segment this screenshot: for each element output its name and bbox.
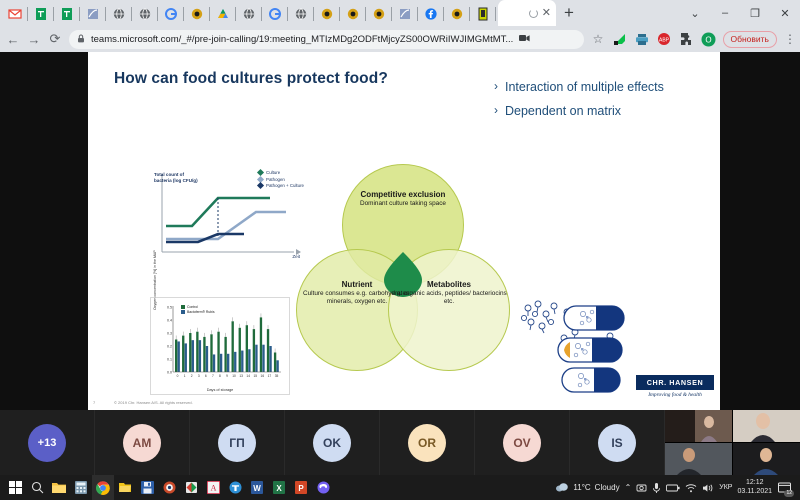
capsule-3 — [562, 368, 620, 392]
chrome-menu-button[interactable]: ⋮ — [784, 32, 794, 46]
acrobat-icon[interactable]: A — [202, 475, 224, 500]
url-text: teams.microsoft.com/_#/pre-join-calling/… — [91, 34, 513, 45]
globe-favicon — [242, 7, 256, 21]
folder-yellow-icon[interactable] — [114, 475, 136, 500]
browser-tab[interactable] — [106, 2, 132, 26]
pdf-reader-icon[interactable] — [180, 475, 202, 500]
tray-expand-chevron-icon[interactable]: ⌃ — [625, 483, 632, 492]
browser-tab[interactable] — [288, 2, 314, 26]
bar — [220, 354, 222, 372]
browser-tab[interactable] — [366, 2, 392, 26]
gmail-favicon — [8, 7, 22, 21]
weather-temp: 11°C — [573, 483, 590, 492]
x-tick-label: 13 — [239, 374, 243, 378]
capsule-1 — [564, 306, 624, 330]
x-tick-label: 15 — [253, 374, 257, 378]
y-tick-label: 0.1 — [167, 357, 172, 361]
bar-chart-y-label: Oxygen concentration [%] in the MAP — [153, 254, 157, 310]
omnibox-toolbar: ← → ⟳ teams.microsoft.com/_#/pre-join-ca… — [0, 26, 800, 52]
svg-text:O: O — [705, 35, 711, 44]
svg-text:A: A — [210, 484, 216, 493]
logo-tagline: Improving food & health — [636, 392, 714, 398]
legend-label: Pathogen — [266, 177, 285, 182]
y-tick-label: 0.3 — [167, 331, 172, 335]
y-tick-label: 0.0 — [167, 370, 172, 374]
weather-description: Cloudy — [595, 483, 620, 492]
file-explorer-icon[interactable] — [48, 475, 70, 500]
free-bacteria-cluster — [521, 301, 557, 333]
bar — [213, 354, 215, 372]
browser-chrome: ✕ + ⌄ – ❐ ✕ ← → ⟳ teams.microsoft.com/_#… — [0, 0, 800, 52]
bar-chart: 0.00.10.20.30.40.5 012367891013141516173… — [150, 297, 290, 395]
bar — [260, 317, 262, 372]
notification-badge: 12 — [784, 490, 794, 497]
svg-text:X: X — [276, 484, 282, 493]
x-tick-label: 1 — [184, 374, 186, 378]
participant-video-4[interactable] — [733, 443, 800, 475]
x-tick-label: 16 — [261, 374, 265, 378]
bar — [189, 333, 191, 372]
legend-item: Bactoferm® Rubis — [181, 310, 215, 314]
bar — [224, 337, 226, 372]
globe-favicon — [138, 7, 152, 21]
logo-wordmark: CHR. HANSEN — [636, 375, 714, 390]
google-favicon — [164, 7, 178, 21]
browser-tab[interactable] — [314, 2, 340, 26]
gold-favicon — [190, 7, 204, 21]
x-tick-label: 35 — [275, 374, 279, 378]
participant-cell[interactable]: IS — [570, 410, 665, 475]
globe-favicon — [294, 7, 308, 21]
bar — [227, 354, 229, 372]
generic-doc-favicon — [398, 7, 412, 21]
language-indicator[interactable]: УКР — [719, 484, 732, 491]
notification-center-icon[interactable]: 12 — [777, 480, 793, 496]
legend-marker-culture — [257, 169, 264, 176]
y-tick-label: 0.4 — [167, 318, 172, 322]
copyright-text: © 2019 Chr. Hansen A/S. All rights reser… — [114, 400, 193, 405]
browser-tab[interactable] — [132, 2, 158, 26]
powerpoint-icon[interactable]: P — [290, 475, 312, 500]
word-icon[interactable]: W — [246, 475, 268, 500]
participant-video-2[interactable] — [733, 410, 800, 442]
browser-tab[interactable] — [236, 2, 262, 26]
bar — [246, 325, 248, 372]
bar-chart-canvas: 0.00.10.20.30.40.5 012367891013141516173… — [151, 298, 289, 394]
x-tick-label: 9 — [226, 374, 228, 378]
adblock-icon[interactable]: ABP — [657, 32, 672, 47]
bar — [178, 341, 180, 372]
svg-text:P: P — [298, 484, 304, 493]
sheets-favicon — [34, 7, 48, 21]
bar — [234, 352, 236, 372]
browser-tab[interactable] — [210, 2, 236, 26]
line-chart: Total count of bacteria (log CFU/g) Zeit… — [146, 168, 306, 266]
legend-label: Bactoferm® Rubis — [187, 310, 215, 314]
weather-widget[interactable]: 11°C Cloudy — [555, 482, 619, 494]
legend-marker-pathogen-culture — [257, 182, 264, 189]
x-tick-label: 0 — [177, 374, 179, 378]
participant-video-1[interactable] — [665, 410, 732, 442]
avatar[interactable]: OR — [408, 424, 446, 462]
window-controls: ⌄ – ❐ ✕ — [680, 0, 800, 26]
avatar[interactable]: IS — [598, 424, 636, 462]
camera-icon[interactable] — [636, 482, 647, 493]
minimize-button[interactable]: – — [710, 0, 740, 26]
venn-heading: Metabolites — [390, 280, 508, 289]
bar — [239, 328, 241, 372]
bookmark-star-icon[interactable]: ☆ — [591, 32, 606, 47]
bar — [274, 353, 276, 373]
bar — [276, 360, 278, 372]
x-tick-label: 7 — [212, 374, 214, 378]
list-item: › Interaction of multiple effects — [494, 80, 684, 95]
extension-green-icon[interactable] — [613, 32, 628, 47]
tab-strip: ✕ + ⌄ – ❐ ✕ — [0, 0, 800, 26]
x-tick-label: 10 — [232, 374, 236, 378]
browser-tab[interactable] — [80, 2, 106, 26]
participant-roster: +13AMГПOKOROVIS — [0, 410, 665, 475]
printer-icon[interactable] — [635, 32, 650, 47]
facebook-favicon — [424, 7, 438, 21]
x-tick-label: 3 — [198, 374, 200, 378]
windows-taskbar: A W X P 11°C Cloudy ⌃ УКР 12:12 03.11.20… — [0, 475, 800, 500]
wifi-icon[interactable] — [685, 483, 697, 493]
chevron-right-icon: › — [494, 104, 498, 118]
participant-video-3[interactable] — [665, 443, 732, 475]
cloud-icon — [555, 482, 569, 494]
calculator-icon[interactable] — [70, 475, 92, 500]
browser-tab[interactable] — [444, 2, 470, 26]
bar — [206, 346, 208, 372]
participant-cell[interactable]: AM — [95, 410, 190, 475]
participant-cell[interactable]: ГП — [190, 410, 285, 475]
bar — [269, 346, 271, 372]
x-tick-label: 17 — [268, 374, 272, 378]
legend-item: Control — [181, 305, 215, 309]
slide-number: 7 — [93, 400, 95, 405]
bar — [232, 321, 234, 372]
browser-tab[interactable] — [470, 2, 496, 26]
gold-favicon — [320, 7, 334, 21]
capsule-bacteria-illustration — [518, 292, 648, 402]
bar-chart-x-label: Days of storage — [151, 388, 289, 392]
avatar[interactable]: OK — [313, 424, 351, 462]
browser-tab[interactable] — [54, 2, 80, 26]
battery-icon[interactable] — [666, 484, 680, 492]
browser-tab[interactable] — [28, 2, 54, 26]
settings-gear-icon[interactable] — [158, 475, 180, 500]
bar — [217, 332, 219, 372]
browser-tab[interactable] — [158, 2, 184, 26]
clock-time: 12:12 — [737, 479, 772, 488]
drive-favicon — [216, 7, 230, 21]
new-tab-button[interactable]: + — [556, 0, 582, 26]
participant-cell[interactable]: OR — [380, 410, 475, 475]
avatar[interactable]: ГП — [218, 424, 256, 462]
bar — [248, 349, 250, 372]
venn-body: e.g. organic acids, peptides/ bacterioci… — [390, 290, 508, 306]
browser-tab[interactable] — [184, 2, 210, 26]
reload-button[interactable]: ⟳ — [48, 31, 62, 47]
bar — [241, 351, 243, 372]
gold-favicon — [346, 7, 360, 21]
legend-label: Culture — [266, 170, 280, 175]
venn-body: Dominant culture taking space — [344, 200, 462, 208]
globe-favicon — [112, 7, 126, 21]
browser-tab[interactable] — [392, 2, 418, 26]
venn-diagram: Competitive exclusion Dominant culture t… — [296, 164, 510, 390]
teams-icon[interactable] — [224, 475, 246, 500]
system-tray: 11°C Cloudy ⌃ УКР 12:12 03.11.2021 12 — [555, 479, 796, 497]
back-button[interactable]: ← — [6, 32, 20, 47]
close-tab-icon[interactable]: ✕ — [542, 8, 551, 19]
address-bar[interactable]: teams.microsoft.com/_#/pre-join-calling/… — [69, 30, 584, 49]
start-button[interactable] — [4, 475, 26, 500]
excel-icon[interactable]: X — [268, 475, 290, 500]
bar-chart-legend: Control Bactoferm® Rubis — [181, 305, 215, 315]
viber-icon[interactable] — [312, 475, 334, 500]
bullet-text: Dependent on matrix — [505, 104, 621, 119]
bar — [253, 329, 255, 372]
close-window-button[interactable]: ✕ — [770, 0, 800, 26]
browser-tab[interactable] — [262, 2, 288, 26]
svg-text:ABP: ABP — [659, 37, 670, 43]
extensions-puzzle-icon[interactable] — [679, 32, 694, 47]
clock-date: 03.11.2021 — [737, 488, 772, 497]
x-tick-label: 8 — [219, 374, 221, 378]
tab-search-icon[interactable]: ⌄ — [680, 0, 710, 26]
meeting-stage: How can food cultures protect food? Tota… — [0, 52, 800, 410]
line-chart-y-label: Total count of bacteria (log CFU/g) — [154, 172, 202, 184]
active-tab[interactable]: ✕ — [498, 0, 556, 26]
avatar[interactable]: AM — [123, 424, 161, 462]
bar — [199, 340, 201, 372]
google-favicon — [268, 7, 282, 21]
volume-icon[interactable] — [702, 483, 714, 493]
browser-tab[interactable] — [340, 2, 366, 26]
bar — [267, 329, 269, 372]
bullet-text: Interaction of multiple effects — [505, 80, 664, 95]
y-tick-label: 0.2 — [167, 344, 172, 348]
tab-loading-spinner — [529, 9, 538, 18]
bar — [185, 343, 187, 372]
bar — [192, 340, 194, 372]
chrome-icon[interactable] — [92, 475, 114, 500]
maximize-button[interactable]: ❐ — [740, 0, 770, 26]
media-cast-icon[interactable] — [519, 30, 530, 48]
search-icon[interactable] — [26, 475, 48, 500]
bar — [210, 334, 212, 372]
microphone-icon[interactable] — [652, 482, 661, 494]
save-disk-icon[interactable] — [136, 475, 158, 500]
browser-tab[interactable] — [2, 2, 28, 26]
legend-swatch-control — [181, 305, 185, 309]
bar — [175, 340, 177, 373]
capsule-2 — [558, 338, 622, 362]
bullet-list: › Interaction of multiple effects › Depe… — [494, 80, 684, 128]
list-item: › Dependent on matrix — [494, 104, 684, 119]
x-tick-label: 6 — [205, 374, 207, 378]
gold-favicon — [372, 7, 386, 21]
bar — [262, 345, 264, 372]
page-title: How can food cultures protect food? — [114, 70, 388, 88]
gold-favicon — [450, 7, 464, 21]
profile-avatar[interactable]: O — [701, 32, 716, 47]
venn-label-competitive-exclusion: Competitive exclusion Dominant culture t… — [344, 190, 462, 208]
legend-label: Control — [187, 305, 198, 309]
bar — [182, 336, 184, 372]
y-tick-label: 0.5 — [167, 305, 172, 309]
x-tick-label: 2 — [191, 374, 193, 378]
legend-swatch-bactoferm — [181, 310, 185, 314]
avatar[interactable]: OV — [503, 424, 541, 462]
video-tile-grid — [665, 410, 800, 475]
x-tick-label: 14 — [246, 374, 250, 378]
notepad-favicon — [476, 7, 490, 21]
generic-doc-favicon — [86, 7, 100, 21]
chevron-right-icon: › — [494, 80, 498, 94]
participant-cell[interactable]: +13 — [0, 410, 95, 475]
venn-heading: Competitive exclusion — [344, 190, 462, 199]
participant-cell[interactable]: OK — [285, 410, 380, 475]
bar — [255, 345, 257, 372]
participant-cell[interactable]: OV — [475, 410, 570, 475]
forward-button[interactable]: → — [27, 32, 41, 47]
venn-label-metabolites: Metabolites e.g. organic acids, peptides… — [390, 280, 508, 306]
sheets-favicon — [60, 7, 74, 21]
clock[interactable]: 12:12 03.11.2021 — [737, 479, 772, 497]
presentation-slide[interactable]: How can food cultures protect food? Tota… — [88, 52, 720, 410]
browser-tab[interactable] — [418, 2, 444, 26]
update-button[interactable]: Обновить — [723, 31, 778, 48]
teams-participant-bar: +13AMГПOKOROVIS — [0, 410, 800, 475]
avatar[interactable]: +13 — [28, 424, 66, 462]
lock-icon — [77, 30, 85, 48]
bar — [203, 337, 205, 372]
svg-text:W: W — [253, 484, 261, 493]
bar — [196, 332, 198, 372]
chr-hansen-logo: CHR. HANSEN Improving food & health — [636, 375, 714, 398]
